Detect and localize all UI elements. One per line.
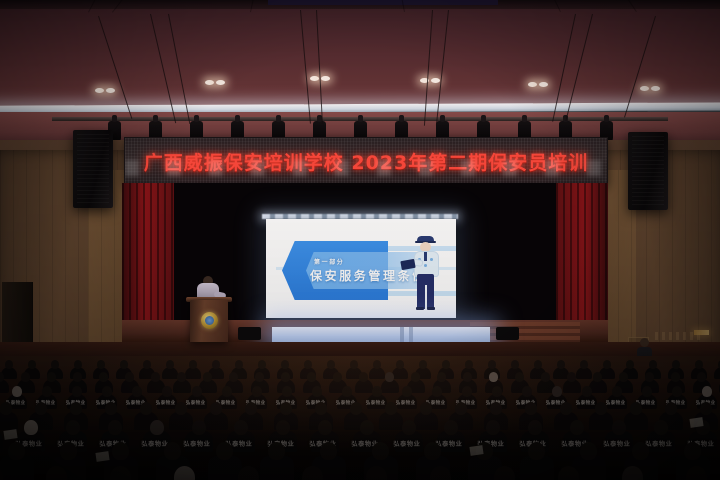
ceiling-downlight	[321, 76, 330, 81]
audience-shading	[0, 356, 720, 480]
ceiling	[0, 0, 720, 108]
guard-badge-icon	[430, 258, 433, 261]
speaker-grill	[77, 134, 109, 204]
ceiling-downlight	[95, 88, 104, 93]
wall-sconce-light	[694, 330, 709, 335]
ceiling-downlight	[651, 86, 660, 91]
podium-emblem-icon	[201, 312, 218, 329]
ceiling-downlight	[528, 82, 537, 87]
ceiling-downlight	[205, 80, 214, 85]
stage-curtain-right	[556, 183, 608, 333]
guard-shoe	[416, 307, 424, 310]
stage-monitor-speaker	[496, 327, 519, 340]
ceiling-downlight	[640, 86, 649, 91]
projection-screen: 第一部分 保安服务管理条例	[266, 219, 456, 318]
right-line-array-speaker	[628, 132, 668, 210]
stage-monitor-speaker	[238, 327, 261, 340]
slide-section-label: 第一部分	[314, 257, 344, 266]
guard-shoe	[427, 307, 435, 310]
ceiling-downlight	[431, 78, 440, 83]
stage-curtain-left	[122, 183, 174, 333]
guard-badge-icon	[424, 264, 427, 267]
led-banner: 广西威振保安培训学校 2023年第二期保安员培训	[124, 137, 608, 185]
ceiling-downlight	[539, 82, 548, 87]
ceiling-downlight	[216, 80, 225, 85]
audience-area: 弘泰物业弘泰物业弘泰物业弘泰物业弘泰物业弘泰物业弘泰物业弘泰物业弘泰物业弘泰物业…	[0, 356, 720, 480]
security-guard-illustration	[409, 233, 443, 311]
left-line-array-speaker	[73, 130, 113, 208]
ceiling-downlight	[310, 76, 319, 81]
attendant-head	[640, 338, 649, 347]
ceiling-vent-strip	[268, 0, 498, 5]
guard-leg-split	[425, 285, 427, 309]
banner-glare	[125, 160, 607, 176]
ceiling-downlight	[106, 88, 115, 93]
speaker-grill	[632, 136, 664, 206]
auditorium-scene: 广西威振保安培训学校 2023年第二期保安员培训 第一部分 保安服务管理条例	[0, 0, 720, 480]
guard-tie	[424, 252, 427, 261]
presentation-slide: 第一部分 保安服务管理条例	[266, 219, 456, 318]
